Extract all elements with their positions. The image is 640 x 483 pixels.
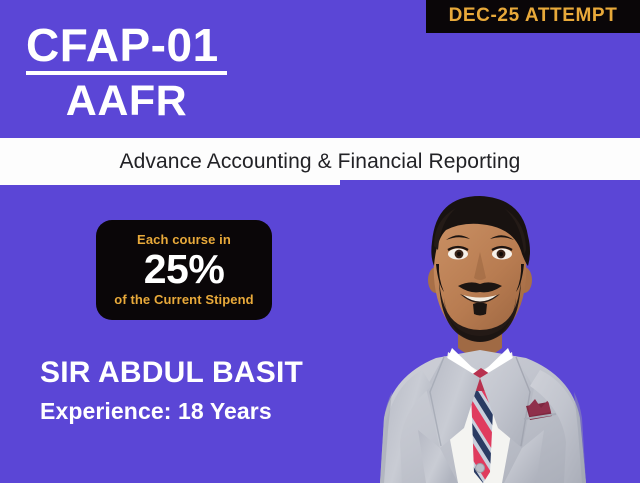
course-code-title: CFAP-01 [26, 22, 219, 68]
course-code-underline [26, 71, 227, 75]
course-promo-poster: DEC-25 ATTEMPT CFAP-01 AAFR Advance Acco… [0, 0, 640, 483]
course-abbreviation-title: AAFR [26, 80, 227, 123]
stipend-promo-badge: Each course in 25% of the Current Stipen… [96, 220, 272, 320]
promo-top-line: Each course in [137, 232, 231, 247]
attempt-badge: DEC-25 ATTEMPT [426, 0, 640, 33]
attempt-badge-label: DEC-25 ATTEMPT [449, 5, 618, 27]
instructor-photo-graphic [340, 180, 640, 483]
promo-percentage-value: 25% [144, 248, 225, 291]
course-subtitle: Advance Accounting & Financial Reporting [120, 150, 521, 174]
instructor-experience: Experience: 18 Years [40, 400, 272, 423]
subtitle-banner: Advance Accounting & Financial Reporting [0, 138, 640, 185]
instructor-name: SIR ABDUL BASIT [40, 358, 303, 388]
promo-bottom-line: of the Current Stipend [114, 292, 253, 307]
instructor-photo [340, 180, 640, 483]
